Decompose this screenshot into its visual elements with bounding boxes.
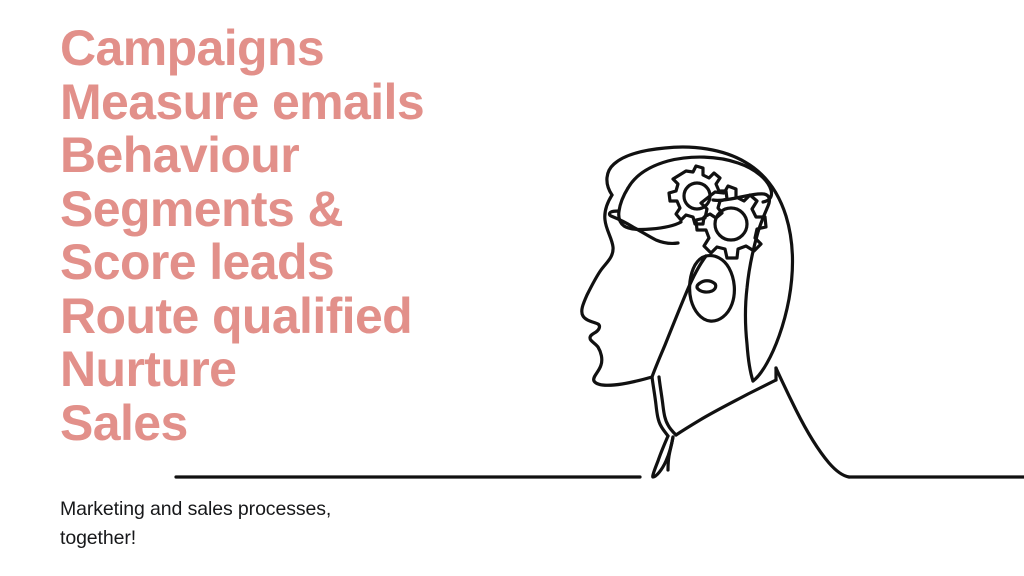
shirt-collar-outline [676, 380, 776, 435]
brain-lobe-lower [619, 188, 681, 230]
headline-item-route-qualified: Route qualified [60, 290, 530, 344]
headline-item-segments: Segments & [60, 183, 530, 237]
headline-item-measure-emails: Measure emails [60, 76, 530, 130]
headline-item-sales: Sales [60, 397, 530, 451]
head-profile-outline [582, 195, 652, 385]
necktie-outline [653, 436, 673, 477]
neck-collar-left [652, 377, 668, 436]
ear-inner-detail [697, 281, 716, 292]
brain-outline [713, 194, 769, 381]
caption-line-2: together! [60, 524, 480, 553]
caption-line-1: Marketing and sales processes, [60, 495, 480, 524]
brain-stem-line [610, 211, 679, 243]
neck-collar-left-inner [659, 377, 676, 435]
headline-item-behaviour: Behaviour [60, 129, 530, 183]
gear-icon-large [696, 186, 766, 258]
gear-icon-large-hub [715, 208, 747, 240]
brain-lobe-upper [628, 157, 772, 202]
scalp-outline [607, 147, 793, 381]
ear-outline [690, 256, 735, 322]
shoulder-outline-right [776, 368, 849, 477]
headline-item-score-leads: Score leads [60, 236, 530, 290]
gear-icon-small [669, 166, 727, 224]
necktie-knot [668, 437, 673, 470]
headline-word-stack: Campaigns Measure emails Behaviour Segme… [60, 22, 530, 450]
headline-item-campaigns: Campaigns [60, 22, 530, 76]
gear-icon-small-hub [684, 183, 710, 209]
headline-item-nurture: Nurture [60, 343, 530, 397]
caption: Marketing and sales processes, together! [60, 495, 480, 553]
ear-jaw-connector [652, 256, 706, 377]
slide-canvas: Campaigns Measure emails Behaviour Segme… [0, 0, 1024, 576]
